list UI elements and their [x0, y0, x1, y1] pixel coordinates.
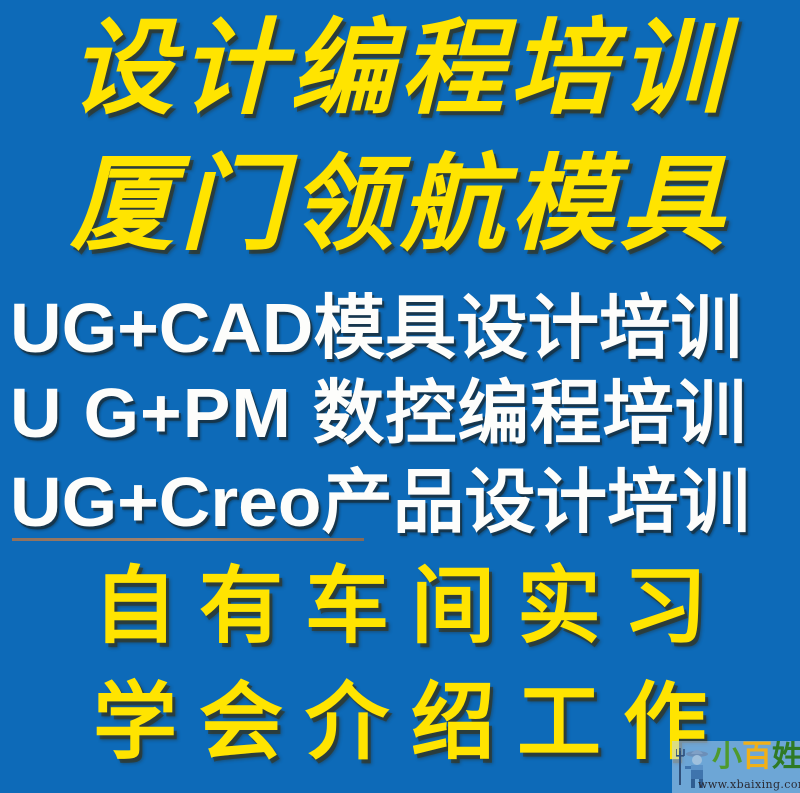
course-line-ug-cad: UG+CAD模具设计培训 — [10, 288, 800, 368]
watermark-char-xiao: 小 — [712, 741, 742, 774]
poster-canvas: 设计编程培训 厦门领航模具 UG+CAD模具设计培训 U G+PM 数控编程培训… — [0, 0, 800, 793]
watermark-char-xing: 姓 — [772, 741, 800, 774]
watermark-url: www.xbaixing.com — [698, 778, 800, 791]
course-underline-rule — [12, 538, 364, 541]
headline-company: 厦门领航模具 — [0, 144, 800, 264]
benefit-line-workshop: 自有车间实习 — [0, 556, 800, 656]
watermark-brand-characters: 小百姓 — [712, 741, 800, 777]
site-watermark: 小百姓 www.xbaixing.com — [672, 741, 800, 793]
watermark-char-bai: 百 — [742, 741, 772, 774]
course-line-ug-creo: UG+Creo产品设计培训 — [10, 462, 800, 542]
headline-primary: 设计编程培训 — [0, 8, 800, 128]
course-line-ug-pm: U G+PM 数控编程培训 — [10, 373, 800, 453]
